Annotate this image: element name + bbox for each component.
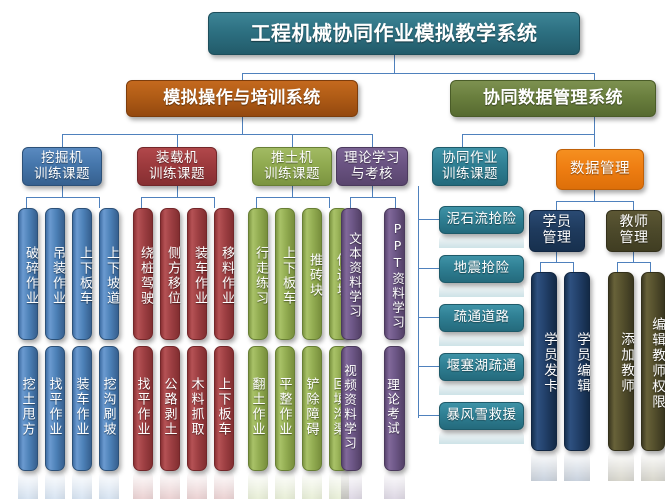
task-collab-1[interactable]: 泥石流抢险 — [439, 206, 524, 234]
teacher-management-line1: 教师 — [620, 215, 649, 231]
reflection — [439, 283, 524, 297]
task-bulldozer-top-2[interactable]: 上下板车 — [275, 208, 295, 340]
category-bulldozer-line2: 训练课题 — [264, 167, 320, 182]
category-excavator[interactable]: 挖掘机 训练课题 — [22, 147, 102, 186]
connector — [594, 134, 595, 147]
task-add-teacher[interactable]: 添加教师 — [608, 272, 634, 451]
task-excavator-bottom-4[interactable]: 挖沟刷坡 — [99, 346, 119, 471]
org-chart-canvas: 工程机械协同作业模拟教学系统 模拟操作与培训系统 协同数据管理系统 挖掘机 训练… — [0, 0, 665, 500]
connector — [617, 262, 618, 272]
task-loader-top-3[interactable]: 装车作业 — [187, 208, 207, 340]
task-collab-3[interactable]: 疏通道路 — [439, 304, 524, 332]
task-excavator-bottom-3[interactable]: 装车作业 — [72, 346, 92, 471]
task-collab-4[interactable]: 堰塞湖疏通 — [439, 353, 524, 381]
category-collab-line1: 协同作业 — [442, 151, 498, 166]
task-student-card-issue[interactable]: 学员发卡 — [531, 272, 557, 451]
connector — [256, 197, 329, 198]
connector — [350, 197, 351, 208]
teacher-management-line2: 管理 — [620, 231, 649, 247]
category-excavator-line1: 挖掘机 — [41, 151, 83, 166]
connector — [556, 252, 557, 262]
task-loader-top-2[interactable]: 侧方移位 — [160, 208, 180, 340]
reflection — [45, 471, 65, 499]
category-theory-line1: 理论学习 — [344, 151, 400, 166]
reflection — [275, 471, 295, 499]
category-collaborative-ops[interactable]: 协同作业 训练课题 — [432, 147, 508, 186]
connector — [214, 197, 215, 208]
connector — [395, 197, 396, 208]
connector — [292, 134, 293, 147]
connector — [633, 252, 634, 262]
task-excavator-top-3[interactable]: 上下板车 — [72, 208, 92, 340]
category-bulldozer[interactable]: 推土机 训练课题 — [252, 147, 332, 186]
reflection — [439, 430, 524, 444]
reflection — [341, 471, 362, 499]
connector — [329, 197, 330, 208]
task-theory-top-1[interactable]: 文本资料学习 — [341, 208, 362, 340]
reflection — [439, 381, 524, 395]
connector — [418, 268, 439, 269]
task-loader-top-4[interactable]: 移料作业 — [214, 208, 234, 340]
reflection — [18, 471, 38, 499]
task-edit-teacher-permission[interactable]: 编辑教师权限 — [641, 272, 665, 451]
connector — [177, 134, 178, 147]
category-excavator-line2: 训练课题 — [34, 167, 90, 182]
task-student-edit[interactable]: 学员编辑 — [564, 272, 590, 451]
connector — [418, 415, 439, 416]
subsystem-simulation-training[interactable]: 模拟操作与培训系统 — [126, 80, 358, 117]
connector — [372, 186, 373, 197]
task-bulldozer-top-3[interactable]: 推砖块 — [302, 208, 322, 340]
connector — [617, 262, 650, 263]
category-collab-line2: 训练课题 — [442, 167, 498, 182]
task-loader-top-1[interactable]: 绕桩驾驶 — [133, 208, 153, 340]
connector — [650, 262, 651, 272]
connector — [462, 134, 594, 135]
reflection — [531, 451, 557, 481]
connector — [26, 197, 27, 208]
connector — [556, 201, 633, 202]
student-management-line2: 管理 — [543, 231, 572, 247]
reflection — [248, 471, 268, 499]
reflection — [439, 234, 524, 248]
connector — [242, 73, 594, 74]
connector — [394, 55, 395, 73]
connector — [141, 197, 142, 208]
node-student-management[interactable]: 学员 管理 — [529, 210, 585, 252]
task-excavator-top-1[interactable]: 破碎作业 — [18, 208, 38, 340]
student-management-line1: 学员 — [543, 215, 572, 231]
connector — [62, 134, 372, 135]
connector — [256, 197, 257, 208]
category-loader[interactable]: 装载机 训练课题 — [137, 147, 217, 186]
system-title-box[interactable]: 工程机械协同作业模拟教学系统 — [208, 12, 580, 55]
connector — [62, 186, 63, 197]
connector — [540, 262, 541, 272]
task-excavator-bottom-2[interactable]: 找平作业 — [45, 346, 65, 471]
task-excavator-top-2[interactable]: 吊装作业 — [45, 208, 65, 340]
category-bulldozer-line1: 推土机 — [271, 151, 313, 166]
task-bulldozer-bottom-3[interactable]: 铲除障碍 — [302, 346, 322, 471]
connector — [418, 366, 439, 367]
connector — [418, 219, 439, 220]
connector — [26, 197, 99, 198]
task-theory-bottom-1[interactable]: 视频资料学习 — [341, 346, 362, 471]
connector — [99, 197, 100, 208]
reflection — [160, 471, 180, 499]
connector — [556, 201, 557, 210]
reflection — [302, 471, 322, 499]
reflection — [564, 451, 590, 481]
reflection — [99, 471, 119, 499]
reflection — [384, 471, 405, 499]
task-bulldozer-top-1[interactable]: 行走练习 — [248, 208, 268, 340]
connector — [418, 317, 439, 318]
connector — [418, 186, 419, 418]
task-bulldozer-bottom-2[interactable]: 平整作业 — [275, 346, 295, 471]
subsystem-collaborative-data-management[interactable]: 协同数据管理系统 — [450, 80, 656, 117]
connector — [372, 134, 373, 147]
task-bulldozer-bottom-1[interactable]: 翻土作业 — [248, 346, 268, 471]
connector — [462, 134, 463, 147]
connector — [540, 262, 573, 263]
connector — [594, 190, 595, 201]
connector — [633, 201, 634, 210]
connector — [573, 262, 574, 272]
node-teacher-management[interactable]: 教师 管理 — [606, 210, 662, 252]
reflection — [133, 471, 153, 499]
reflection — [72, 471, 92, 499]
task-loader-bottom-1[interactable]: 找平作业 — [133, 346, 153, 471]
task-excavator-bottom-1[interactable]: 挖土甩方 — [18, 346, 38, 471]
task-loader-bottom-4[interactable]: 上下板车 — [214, 346, 234, 471]
reflection — [608, 451, 634, 481]
category-data-management[interactable]: 数据管理 — [556, 149, 644, 190]
category-loader-line1: 装载机 — [156, 151, 198, 166]
task-collab-2[interactable]: 地震抢险 — [439, 255, 524, 283]
task-excavator-top-4[interactable]: 上下坡道 — [99, 208, 119, 340]
connector — [62, 134, 63, 147]
category-loader-line2: 训练课题 — [149, 167, 205, 182]
reflection — [187, 471, 207, 499]
category-theory-line2: 与考核 — [351, 167, 393, 182]
connector — [350, 197, 395, 198]
task-theory-top-2[interactable]: PPT资料学习 — [384, 208, 405, 340]
task-loader-bottom-2[interactable]: 公路剥土 — [160, 346, 180, 471]
reflection — [641, 451, 665, 481]
category-theory-study[interactable]: 理论学习 与考核 — [336, 147, 408, 186]
task-theory-bottom-2[interactable]: 理论考试 — [384, 346, 405, 471]
connector — [242, 117, 243, 134]
reflection — [439, 332, 524, 346]
task-loader-bottom-3[interactable]: 木料抓取 — [187, 346, 207, 471]
connector — [292, 186, 293, 197]
task-collab-5[interactable]: 暴风雪救援 — [439, 402, 524, 430]
connector — [594, 117, 595, 134]
connector — [177, 186, 178, 197]
reflection — [214, 471, 234, 499]
connector — [141, 197, 214, 198]
